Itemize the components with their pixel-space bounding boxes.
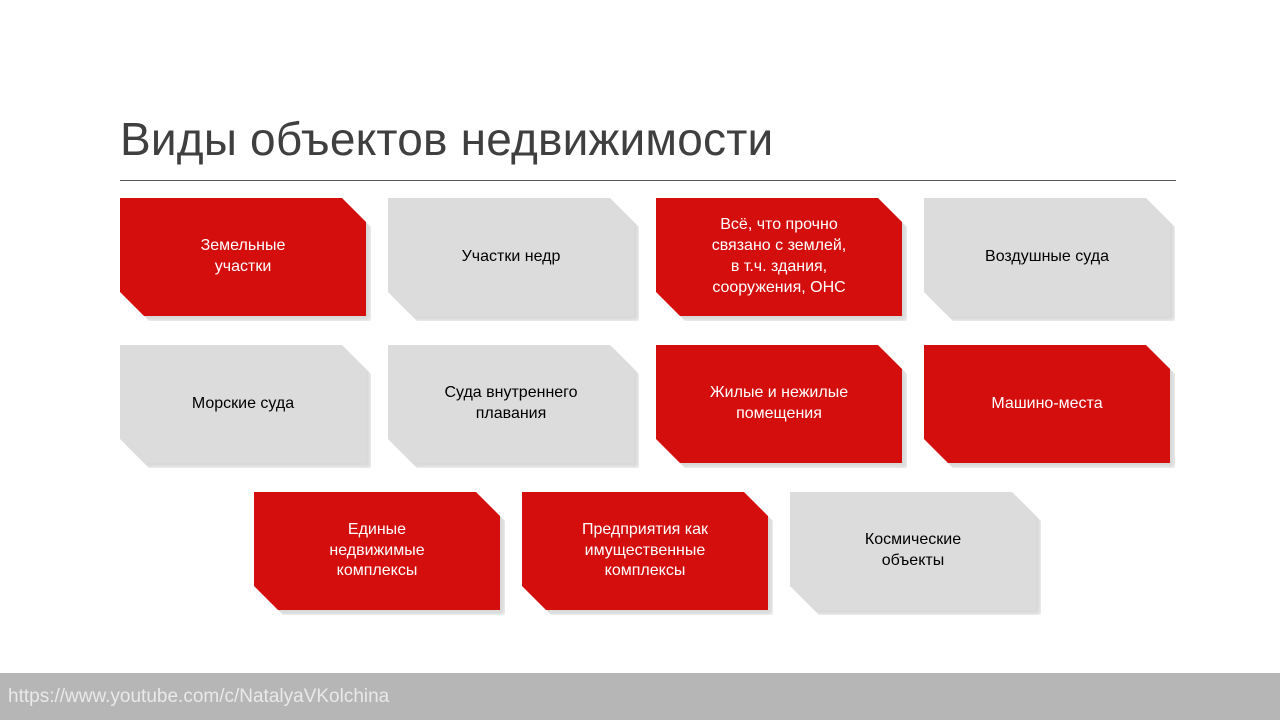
chevron-card-label: Единыенедвижимыекомплексы (319, 520, 434, 582)
chevron-card[interactable]: Суда внутреннегоплавания (388, 345, 634, 463)
footer-url-bar: https://www.youtube.com/c/NatalyaVKolchi… (0, 673, 1280, 720)
chevron-card[interactable]: Предприятия какимущественныекомплексы (522, 492, 768, 610)
chevron-card-label: Суда внутреннегоплавания (434, 383, 587, 425)
chevron-card[interactable]: Участки недр (388, 198, 634, 316)
chevron-card[interactable]: Всё, что прочносвязано с землей,в т.ч. з… (656, 198, 902, 316)
chevron-card-label: Космическиеобъекты (855, 530, 971, 572)
chevron-card-label: Участки недр (452, 247, 571, 268)
chevron-card[interactable]: Земельныеучастки (120, 198, 366, 316)
chevron-card-label: Машино-места (981, 394, 1112, 415)
chevron-diagram: ЗемельныеучасткиУчастки недрВсё, что про… (0, 0, 1280, 720)
chevron-card[interactable]: Воздушные суда (924, 198, 1170, 316)
chevron-card[interactable]: Космическиеобъекты (790, 492, 1036, 610)
chevron-card[interactable]: Морские суда (120, 345, 366, 463)
chevron-card-label: Предприятия какимущественныекомплексы (572, 520, 718, 582)
chevron-card-label: Воздушные суда (975, 247, 1119, 268)
chevron-card[interactable]: Единыенедвижимыекомплексы (254, 492, 500, 610)
chevron-card-label: Всё, что прочносвязано с землей,в т.ч. з… (702, 215, 857, 298)
chevron-card-label: Жилые и нежилыепомещения (700, 383, 858, 425)
chevron-card[interactable]: Машино-места (924, 345, 1170, 463)
chevron-card-label: Морские суда (182, 394, 304, 415)
chevron-card[interactable]: Жилые и нежилыепомещения (656, 345, 902, 463)
slide-canvas: Виды объектов недвижимости Земельныеучас… (0, 0, 1280, 720)
footer-url-text[interactable]: https://www.youtube.com/c/NatalyaVKolchi… (8, 686, 389, 708)
chevron-card-label: Земельныеучастки (191, 236, 296, 278)
